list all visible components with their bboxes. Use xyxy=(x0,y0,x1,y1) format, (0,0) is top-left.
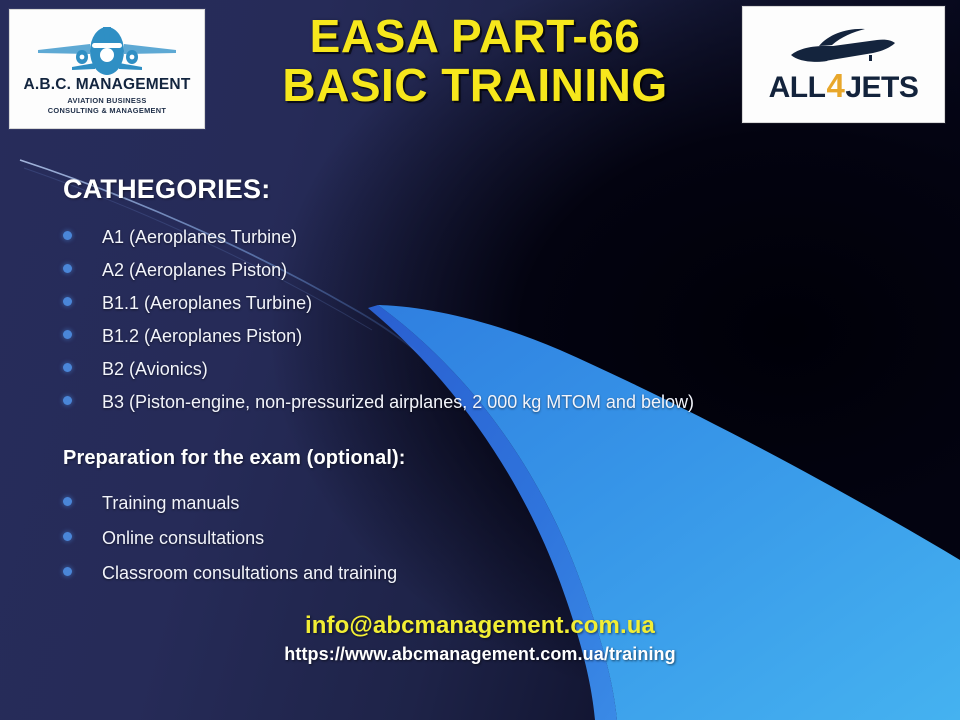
list-item-label: B2 (Avionics) xyxy=(102,360,208,378)
list-item-label: A2 (Aeroplanes Piston) xyxy=(102,261,287,279)
bullet-dot-icon xyxy=(63,297,72,306)
bullet-dot-icon xyxy=(63,567,72,576)
abc-logo-name: A.B.C. MANAGEMENT xyxy=(23,77,190,93)
bullet-dot-icon xyxy=(63,264,72,273)
contact-website-link[interactable]: https://www.abcmanagement.com.ua/trainin… xyxy=(0,644,960,666)
list-item: B2 (Avionics) xyxy=(63,360,694,393)
slide-canvas: A.B.C. MANAGEMENT AVIATION BUSINESS CONS… xyxy=(0,0,960,720)
all4jets-wordmark: ALL 4 JETS xyxy=(769,69,919,103)
list-item-label: Training manuals xyxy=(102,494,239,512)
list-item: Online consultations xyxy=(63,529,397,564)
list-item: B1.2 (Aeroplanes Piston) xyxy=(63,327,694,360)
preparation-heading: Preparation for the exam (optional): xyxy=(63,447,406,470)
bullet-dot-icon xyxy=(63,532,72,541)
list-item-label: Online consultations xyxy=(102,529,264,547)
bullet-dot-icon xyxy=(63,363,72,372)
list-item-label: B1.2 (Aeroplanes Piston) xyxy=(102,327,302,345)
bullet-dot-icon xyxy=(63,396,72,405)
categories-heading: CATHEGORIES: xyxy=(63,174,270,205)
list-item: Classroom consultations and training xyxy=(63,564,397,599)
airplane-front-icon xyxy=(32,23,182,75)
list-item: B3 (Piston-engine, non-pressurized airpl… xyxy=(63,393,694,426)
all4jets-logo: ALL 4 JETS xyxy=(742,6,945,123)
title-line-1: EASA PART-66 xyxy=(215,12,735,61)
categories-list: A1 (Aeroplanes Turbine) A2 (Aeroplanes P… xyxy=(63,228,694,426)
title-line-2: BASIC TRAINING xyxy=(215,61,735,110)
list-item: A1 (Aeroplanes Turbine) xyxy=(63,228,694,261)
abc-tagline-line2: CONSULTING & MANAGEMENT xyxy=(48,106,166,115)
bullet-dot-icon xyxy=(63,231,72,240)
list-item-label: Classroom consultations and training xyxy=(102,564,397,582)
jet-silhouette-icon xyxy=(785,26,903,68)
list-item-label: A1 (Aeroplanes Turbine) xyxy=(102,228,297,246)
list-item-label: B1.1 (Aeroplanes Turbine) xyxy=(102,294,312,312)
list-item: Training manuals xyxy=(63,494,397,529)
all4jets-word-all: ALL xyxy=(769,73,826,103)
list-item: B1.1 (Aeroplanes Turbine) xyxy=(63,294,694,327)
list-item-label: B3 (Piston-engine, non-pressurized airpl… xyxy=(102,393,694,411)
all4jets-word-four: 4 xyxy=(825,69,845,102)
bullet-dot-icon xyxy=(63,330,72,339)
contact-block: info@abcmanagement.com.ua https://www.ab… xyxy=(0,613,960,665)
list-item: A2 (Aeroplanes Piston) xyxy=(63,261,694,294)
abc-tagline-line1: AVIATION BUSINESS xyxy=(48,96,166,105)
all4jets-word-jets: JETS xyxy=(845,73,918,103)
preparation-list: Training manuals Online consultations Cl… xyxy=(63,494,397,599)
contact-email-link[interactable]: info@abcmanagement.com.ua xyxy=(0,613,960,640)
abc-management-logo: A.B.C. MANAGEMENT AVIATION BUSINESS CONS… xyxy=(9,9,205,129)
abc-logo-tagline: AVIATION BUSINESS CONSULTING & MANAGEMEN… xyxy=(48,96,166,115)
page-title: EASA PART-66 BASIC TRAINING xyxy=(215,12,735,110)
bullet-dot-icon xyxy=(63,497,72,506)
